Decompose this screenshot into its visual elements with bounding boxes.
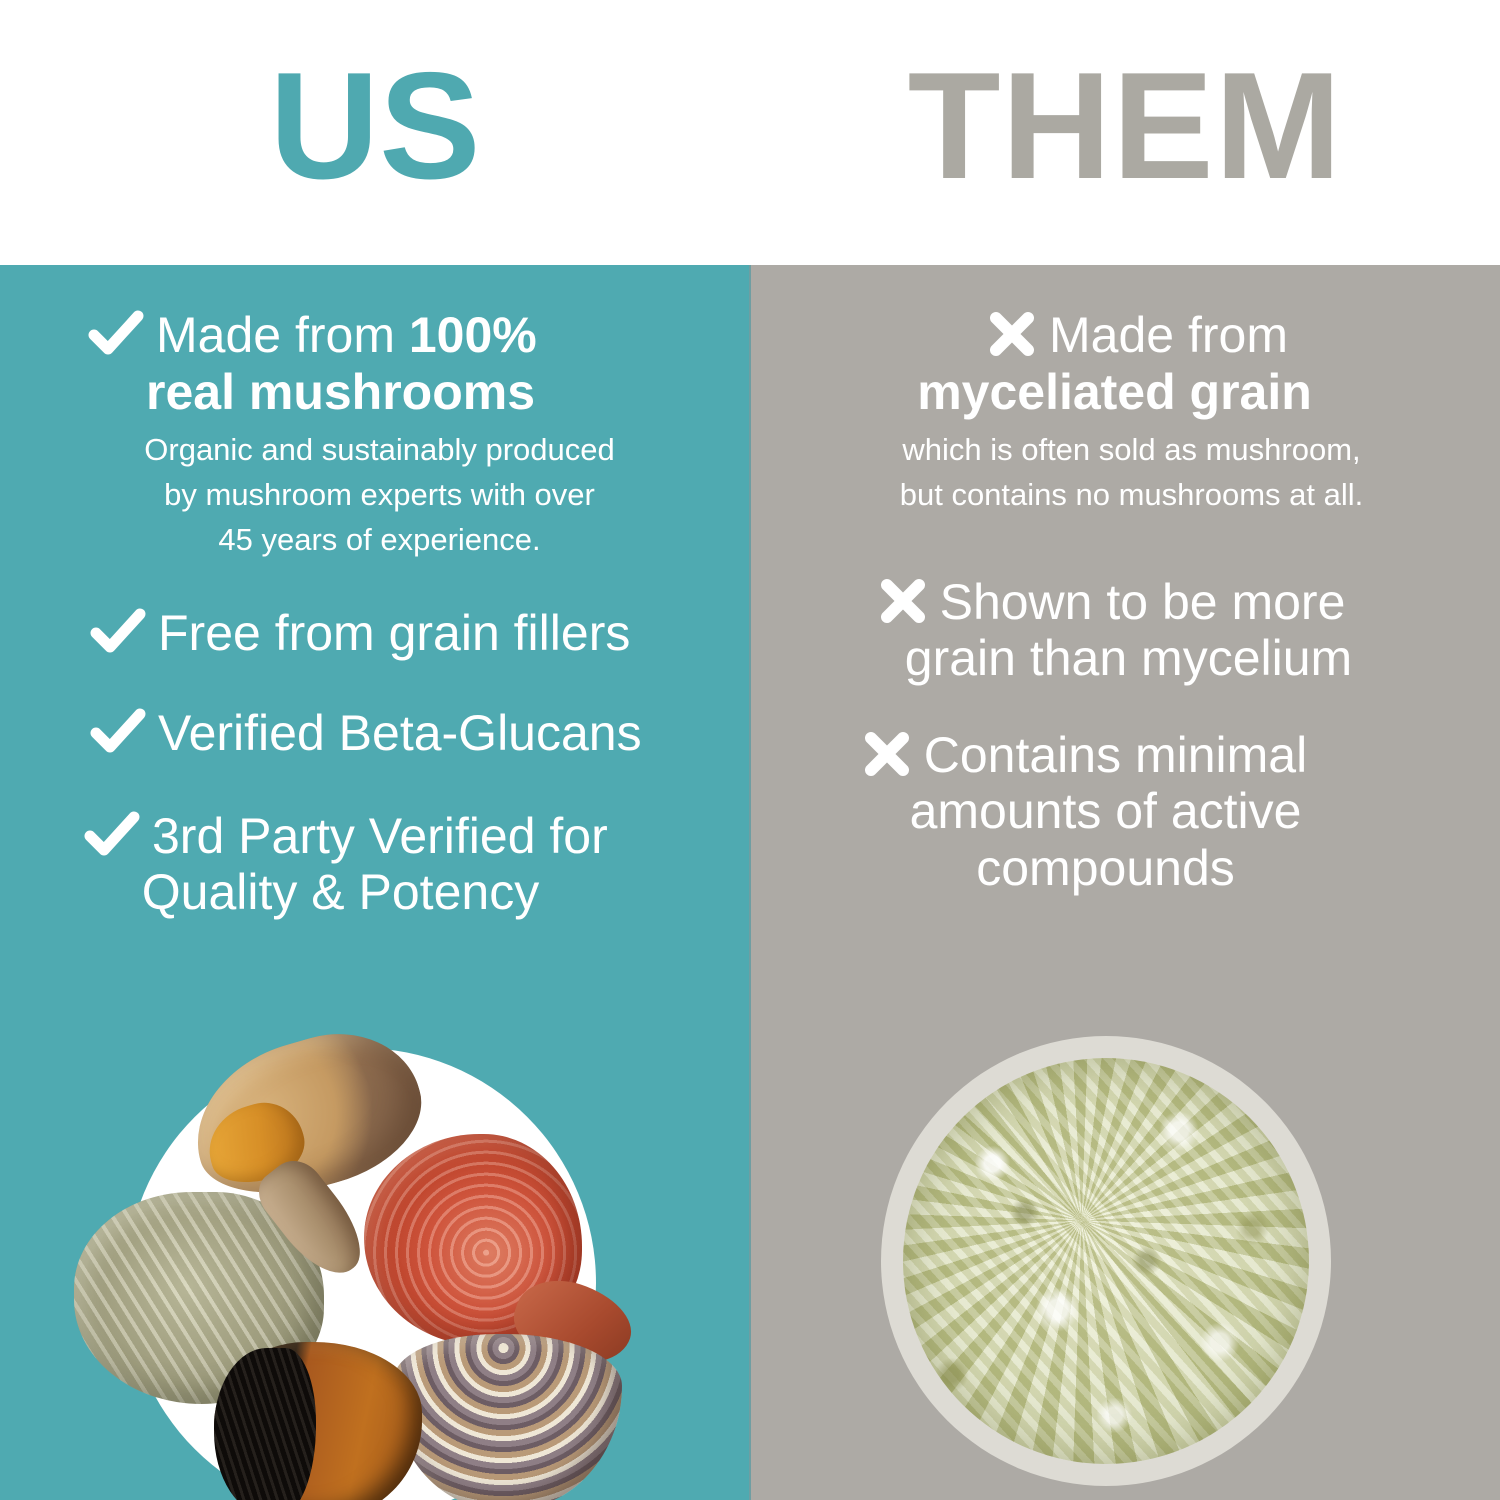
them-bullet-1-text-bold2: myceliated grain <box>817 364 1458 421</box>
chaga-crust <box>214 1348 316 1500</box>
us-bullet-1: Made from 100% real mushrooms Organic an… <box>6 307 749 563</box>
myceliated-grain-image <box>903 1058 1309 1464</box>
us-bullet-1-text-prefix: Made from <box>156 307 409 363</box>
header-cell-them: THEM <box>750 0 1500 265</box>
check-icon <box>84 811 140 859</box>
them-bullet-3-text-line2: amounts of active <box>765 783 1404 840</box>
us-bullet-2: Free from grain fillers <box>6 605 749 662</box>
comparison-infographic: US THEM Made from 100% real mushrooms <box>0 0 1500 1500</box>
us-bullet-3-headline: Verified Beta-Glucans <box>6 705 749 762</box>
them-bullet-1-text-line1: Made from <box>1049 307 1288 363</box>
check-icon <box>88 310 144 358</box>
chaga-mushroom-image <box>214 1342 422 1500</box>
turkey-tail-mushroom-image <box>394 1334 622 1500</box>
them-bullet-1-sub: which is often sold as mushroom, but con… <box>751 420 1500 518</box>
myceliated-grain-photo <box>881 1036 1351 1486</box>
them-bullet-1-sub-line2: but contains no mushrooms at all. <box>900 477 1364 512</box>
them-bullet-3: Contains minimal amounts of active compo… <box>751 727 1500 897</box>
us-bullet-3: Verified Beta-Glucans <box>6 705 749 762</box>
them-panel: Made from myceliated grain which is ofte… <box>751 265 1500 1500</box>
us-bullet-2-headline: Free from grain fillers <box>6 605 749 662</box>
us-bullet-4-text-line1: 3rd Party Verified for <box>152 808 608 864</box>
check-icon <box>90 708 146 756</box>
us-bullet-4-text-line2: Quality & Potency <box>84 864 707 921</box>
us-bullet-list: Made from 100% real mushrooms Organic an… <box>0 265 749 921</box>
us-bullet-1-sub-line1: Organic and sustainably produced <box>144 432 614 467</box>
check-icon <box>90 608 146 656</box>
us-bullet-1-sub: Organic and sustainably produced by mush… <box>6 420 749 563</box>
us-bullet-1-sub-line3: 45 years of experience. <box>218 522 540 557</box>
them-bullet-3-text-line3: compounds <box>765 840 1404 897</box>
them-bullet-3-headline: Contains minimal amounts of active compo… <box>751 727 1500 897</box>
us-bullet-1-text-bold1: 100% <box>409 307 537 363</box>
us-bullet-1-headline: Made from 100% real mushrooms <box>6 307 749 420</box>
mushroom-collage-photo <box>64 1042 684 1500</box>
us-title: US <box>269 50 480 216</box>
x-icon <box>878 577 928 625</box>
them-bullet-3-text-line1: Contains minimal <box>924 727 1307 783</box>
us-bullet-4-headline: 3rd Party Verified for Quality & Potency <box>6 808 749 921</box>
them-bullet-2-headline: Shown to be more grain than mycelium <box>751 574 1500 687</box>
x-icon <box>862 730 912 778</box>
x-icon <box>987 310 1037 358</box>
comparison-panels: Made from 100% real mushrooms Organic an… <box>0 265 1500 1500</box>
them-bullet-1-headline: Made from myceliated grain <box>751 307 1500 420</box>
them-bullet-1-sub-line1: which is often sold as mushroom, <box>902 432 1360 467</box>
them-bullet-2-text-line1: Shown to be more <box>940 574 1346 630</box>
comparison-header: US THEM <box>0 0 1500 265</box>
us-bullet-3-text: Verified Beta-Glucans <box>158 705 642 761</box>
header-cell-us: US <box>0 0 750 265</box>
us-bullet-1-sub-line2: by mushroom experts with over <box>164 477 595 512</box>
them-bullet-2: Shown to be more grain than mycelium <box>751 574 1500 687</box>
us-bullet-2-text: Free from grain fillers <box>158 605 630 661</box>
them-title: THEM <box>908 50 1343 216</box>
us-panel: Made from 100% real mushrooms Organic an… <box>0 265 749 1500</box>
us-bullet-4: 3rd Party Verified for Quality & Potency <box>6 808 749 921</box>
them-bullet-list: Made from myceliated grain which is ofte… <box>751 265 1500 896</box>
them-bullet-1: Made from myceliated grain which is ofte… <box>751 307 1500 518</box>
them-bullet-2-text-line2: grain than mycelium <box>775 630 1448 687</box>
us-bullet-1-text-bold2: real mushrooms <box>88 364 709 421</box>
